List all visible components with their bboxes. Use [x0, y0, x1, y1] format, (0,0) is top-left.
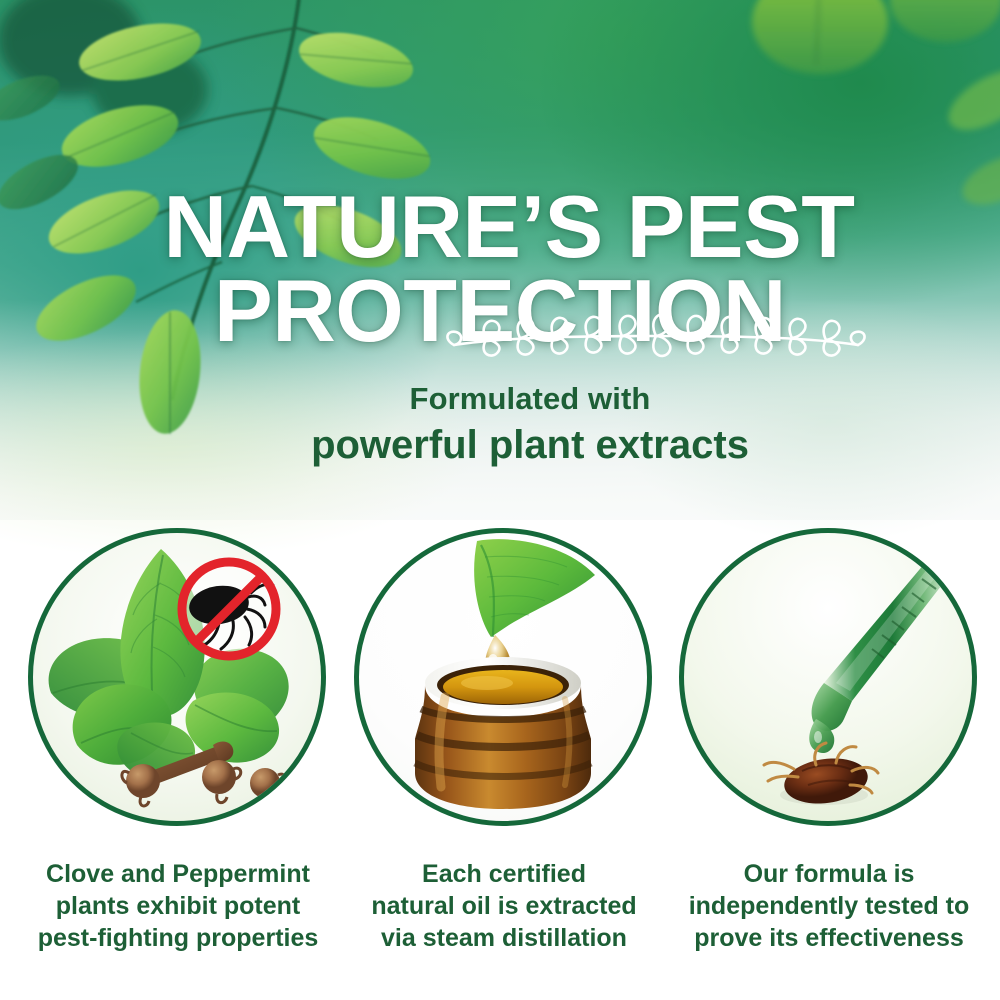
caption-line: natural oil is extracted — [354, 890, 654, 922]
subtitle-line-2: powerful plant extracts — [0, 423, 1000, 468]
amber-oil-bottle-leaf-drop-icon — [359, 533, 647, 821]
caption-line: pest-fighting properties — [28, 922, 328, 954]
caption-line: Clove and Peppermint — [28, 858, 328, 890]
green-pipette-dropper-dead-bug-icon — [684, 533, 972, 821]
card-caption-clove-peppermint: Clove and Peppermint plants exhibit pote… — [28, 858, 328, 954]
headline-line-1: NATURE’S PEST — [0, 185, 1000, 269]
caption-line: Each certified — [354, 858, 654, 890]
laurel-vine-divider-icon — [440, 312, 872, 362]
caption-line: independently tested to — [679, 890, 979, 922]
subtitle-line-1: Formulated with — [0, 381, 1000, 417]
card-image-oil-bottle — [354, 528, 652, 826]
card-caption-independently-tested: Our formula is independently tested to p… — [679, 858, 979, 954]
feature-card-clove-peppermint: Clove and Peppermint plants exhibit pote… — [28, 528, 328, 826]
caption-line: plants exhibit potent — [28, 890, 328, 922]
feature-card-independently-tested: Our formula is independently tested to p… — [679, 528, 979, 826]
card-image-pipette-bug — [679, 528, 977, 826]
feature-cards: Clove and Peppermint plants exhibit pote… — [0, 528, 1000, 1000]
caption-line: prove its effectiveness — [679, 922, 979, 954]
card-image-clove-peppermint — [28, 528, 326, 826]
poster-root: NATURE’S PEST PROTECTION — [0, 0, 1000, 1000]
peppermint-leaves-cloves-no-pest-icon — [33, 533, 321, 821]
caption-line: via steam distillation — [354, 922, 654, 954]
card-caption-steam-distillation: Each certified natural oil is extracted … — [354, 858, 654, 954]
caption-line: Our formula is — [679, 858, 979, 890]
feature-card-steam-distillation: Each certified natural oil is extracted … — [354, 528, 654, 826]
